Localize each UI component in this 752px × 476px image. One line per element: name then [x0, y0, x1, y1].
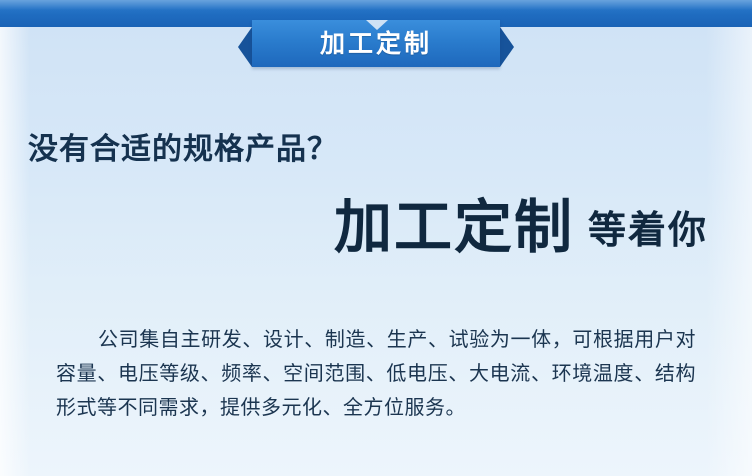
- ribbon-tail-left: [238, 27, 252, 67]
- right-gradient-decoration: [706, 0, 752, 476]
- top-bar-shine: [0, 0, 752, 10]
- headline-sub-text: 等着你: [588, 202, 708, 258]
- headline-question: 没有合适的规格产品？: [28, 124, 338, 168]
- custom-processing-banner: 加工定制 没有合适的规格产品？ 加工定制 等着你 公司集自主研发、设计、制造、生…: [0, 0, 752, 476]
- description-paragraph: 公司集自主研发、设计、制造、生产、试验为一体，可根据用户对容量、电压等级、频率、…: [56, 322, 696, 424]
- headline-main-group: 加工定制 等着你: [334, 196, 708, 258]
- ribbon-notch: [366, 20, 388, 30]
- ribbon-tail-right: [500, 27, 514, 67]
- left-gradient-decoration: [0, 0, 30, 476]
- headline-main-text: 加工定制: [334, 196, 574, 258]
